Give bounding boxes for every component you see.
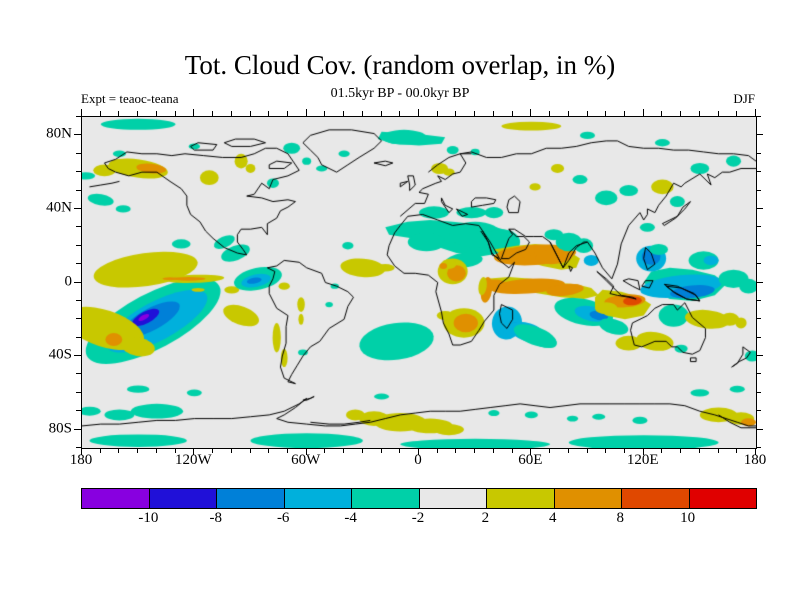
- y-tick: [756, 410, 761, 411]
- y-tick: [76, 226, 81, 227]
- x-tick: [156, 111, 157, 116]
- x-tick: [661, 448, 662, 453]
- x-tick: [100, 111, 101, 116]
- colorbar-segment: [150, 489, 218, 508]
- y-axis-label: 0: [65, 273, 73, 290]
- colorbar-tick-label: -6: [277, 510, 290, 527]
- x-tick: [474, 448, 475, 453]
- colorbar-segment: [420, 489, 488, 508]
- y-tick: [74, 429, 81, 430]
- x-tick: [624, 448, 625, 453]
- x-tick: [231, 111, 232, 116]
- x-tick: [343, 448, 344, 453]
- colorbar-tick-label: -8: [210, 510, 223, 527]
- x-tick: [736, 448, 737, 453]
- colorbar: [81, 488, 757, 509]
- y-tick: [756, 337, 761, 338]
- y-tick: [756, 300, 761, 301]
- y-tick: [76, 190, 81, 191]
- colorbar-segment: [352, 489, 420, 508]
- colorbar-tick-label: 8: [616, 510, 624, 527]
- x-tick: [736, 111, 737, 116]
- y-tick: [756, 282, 763, 283]
- y-tick: [74, 282, 81, 283]
- colorbar-segment: [285, 489, 353, 508]
- x-axis-label: 60W: [291, 452, 320, 469]
- y-tick: [756, 190, 761, 191]
- x-tick: [680, 448, 681, 453]
- x-tick: [755, 109, 756, 116]
- x-tick: [399, 111, 400, 116]
- x-tick: [250, 111, 251, 116]
- y-tick: [76, 447, 81, 448]
- x-tick: [549, 448, 550, 453]
- y-tick: [756, 171, 761, 172]
- colorbar-tick-label: 4: [549, 510, 557, 527]
- y-tick: [76, 153, 81, 154]
- y-tick: [74, 355, 81, 356]
- y-tick: [756, 429, 763, 430]
- x-tick: [680, 111, 681, 116]
- x-tick: [399, 448, 400, 453]
- x-tick: [324, 111, 325, 116]
- climate-map-figure: Tot. Cloud Cov. (random overlap, in %) 0…: [0, 0, 800, 600]
- x-tick: [193, 109, 194, 116]
- x-tick: [250, 448, 251, 453]
- y-tick: [756, 208, 763, 209]
- x-tick: [549, 111, 550, 116]
- x-tick: [156, 448, 157, 453]
- y-tick: [76, 337, 81, 338]
- x-tick: [493, 448, 494, 453]
- y-tick: [756, 392, 761, 393]
- x-tick: [231, 448, 232, 453]
- y-tick: [76, 373, 81, 374]
- x-tick: [137, 111, 138, 116]
- colorbar-tick-label: -2: [412, 510, 425, 527]
- y-tick: [756, 226, 761, 227]
- x-tick: [175, 111, 176, 116]
- x-tick: [268, 448, 269, 453]
- y-tick: [74, 208, 81, 209]
- x-axis-label: 0: [414, 452, 422, 469]
- colorbar-segment: [690, 489, 757, 508]
- x-tick: [455, 448, 456, 453]
- y-axis-label: 80S: [49, 420, 72, 437]
- y-tick: [756, 116, 761, 117]
- x-tick: [381, 111, 382, 116]
- x-tick: [381, 448, 382, 453]
- y-tick: [756, 373, 761, 374]
- x-tick: [437, 111, 438, 116]
- y-tick: [756, 318, 761, 319]
- x-tick: [268, 111, 269, 116]
- x-tick: [343, 111, 344, 116]
- colorbar-segment: [555, 489, 623, 508]
- x-tick: [718, 448, 719, 453]
- y-tick: [756, 447, 761, 448]
- y-tick: [76, 392, 81, 393]
- y-tick: [756, 355, 763, 356]
- colorbar-tick-label: 10: [680, 510, 695, 527]
- x-tick: [624, 111, 625, 116]
- x-tick: [118, 111, 119, 116]
- page-title: Tot. Cloud Cov. (random overlap, in %): [0, 50, 800, 81]
- y-axis-label: 40S: [49, 347, 72, 364]
- y-tick: [76, 318, 81, 319]
- x-tick: [212, 448, 213, 453]
- x-tick: [287, 111, 288, 116]
- x-tick: [306, 109, 307, 116]
- x-tick: [118, 448, 119, 453]
- season-label: DJF: [733, 91, 755, 107]
- x-tick: [512, 448, 513, 453]
- x-tick: [418, 109, 419, 116]
- x-tick: [587, 448, 588, 453]
- y-tick: [76, 263, 81, 264]
- y-tick: [756, 134, 763, 135]
- x-tick: [643, 109, 644, 116]
- colorbar-tick-label: -4: [344, 510, 357, 527]
- y-tick: [76, 410, 81, 411]
- y-tick: [76, 245, 81, 246]
- experiment-label: Expt = teaoc-teana: [81, 91, 179, 107]
- x-tick: [287, 448, 288, 453]
- colorbar-segment: [487, 489, 555, 508]
- x-tick: [474, 111, 475, 116]
- y-tick: [756, 263, 761, 264]
- x-tick: [437, 448, 438, 453]
- colorbar-segment: [217, 489, 285, 508]
- y-axis-label: 80N: [46, 126, 72, 143]
- x-tick: [661, 111, 662, 116]
- map-plot-area: [81, 116, 757, 449]
- y-tick: [756, 153, 761, 154]
- y-tick: [74, 134, 81, 135]
- colorbar-segment: [622, 489, 690, 508]
- y-tick: [756, 245, 761, 246]
- x-axis-label: 180: [744, 452, 767, 469]
- x-tick: [324, 448, 325, 453]
- y-tick: [76, 171, 81, 172]
- x-tick: [587, 111, 588, 116]
- y-axis-label: 40N: [46, 199, 72, 216]
- colorbar-tick-label: -10: [138, 510, 158, 527]
- x-tick: [81, 109, 82, 116]
- x-tick: [605, 448, 606, 453]
- colorbar-segment: [82, 489, 150, 508]
- x-axis-label: 120E: [627, 452, 659, 469]
- x-tick: [530, 109, 531, 116]
- x-tick: [699, 111, 700, 116]
- x-tick: [699, 448, 700, 453]
- x-tick: [512, 111, 513, 116]
- x-tick: [605, 111, 606, 116]
- y-tick: [76, 116, 81, 117]
- x-tick: [568, 448, 569, 453]
- x-tick: [568, 111, 569, 116]
- x-tick: [493, 111, 494, 116]
- colorbar-tick-label: 2: [482, 510, 490, 527]
- x-axis-label: 60E: [518, 452, 542, 469]
- x-tick: [137, 448, 138, 453]
- x-tick: [212, 111, 213, 116]
- x-axis-label: 180: [70, 452, 93, 469]
- map-canvas: [82, 117, 756, 448]
- x-tick: [455, 111, 456, 116]
- x-axis-label: 120W: [175, 452, 212, 469]
- x-tick: [362, 448, 363, 453]
- y-tick: [76, 300, 81, 301]
- x-tick: [718, 111, 719, 116]
- x-tick: [362, 111, 363, 116]
- x-tick: [100, 448, 101, 453]
